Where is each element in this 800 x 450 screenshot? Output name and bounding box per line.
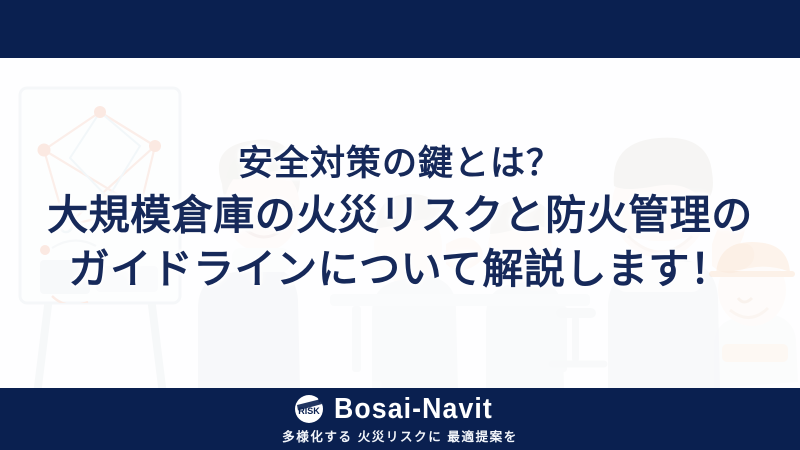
brand-tagline: 多様化する 火災リスクに 最適提案を <box>282 429 518 445</box>
top-navy-bar <box>0 0 800 58</box>
headline-line-2: 大規模倉庫の火災リスクと防火管理の <box>0 188 800 242</box>
headline-line-1: 安全対策の鍵とは？ <box>0 140 800 188</box>
risk-badge-label: RISK <box>298 406 320 416</box>
risk-badge-icon: RISK <box>294 394 324 424</box>
logo-lockup[interactable]: RISK Bosai-Navit <box>294 393 507 425</box>
slide-canvas: 安全対策の鍵とは？ 大規模倉庫の火災リスクと防火管理の ガイドラインについて解説… <box>0 0 800 450</box>
headline-line-3: ガイドラインについて解説します！ <box>0 242 800 296</box>
headline-block: 安全対策の鍵とは？ 大規模倉庫の火災リスクと防火管理の ガイドラインについて解説… <box>0 140 800 296</box>
footer-bar: RISK Bosai-Navit 多様化する 火災リスクに 最適提案を <box>0 388 800 450</box>
brand-name: Bosai-Navit <box>334 394 493 424</box>
